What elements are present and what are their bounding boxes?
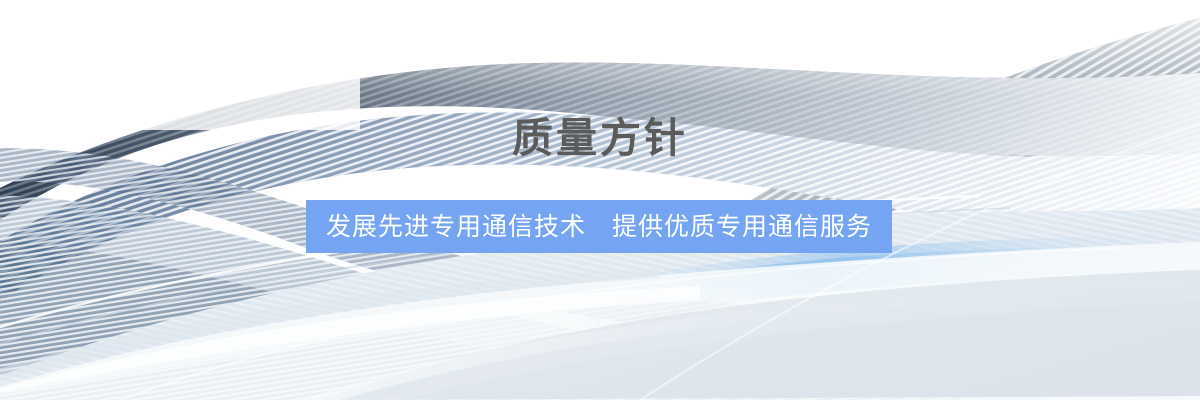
subtitle-band: 发展先进专用通信技术 提供优质专用通信服务 — [306, 200, 892, 253]
subtitle-text: 发展先进专用通信技术 提供优质专用通信服务 — [326, 200, 872, 253]
banner-content: 质量方针 发展先进专用通信技术 提供优质专用通信服务 — [0, 0, 1200, 400]
quality-policy-banner: 质量方针 发展先进专用通信技术 提供优质专用通信服务 — [0, 0, 1200, 400]
page-title: 质量方针 — [0, 114, 1200, 162]
